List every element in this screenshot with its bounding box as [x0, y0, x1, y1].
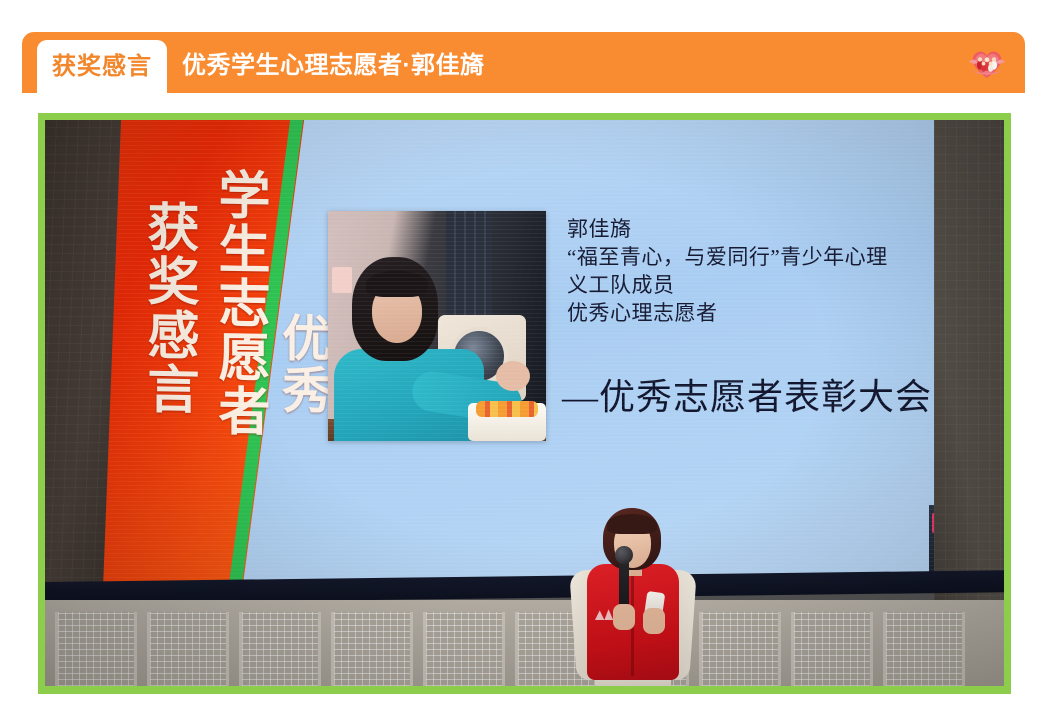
header-badge-label: 获奖感言 — [52, 55, 152, 79]
slide-text-line-1: 郭佳旖 — [567, 216, 962, 244]
stage-floor — [45, 600, 1004, 686]
floor-panel — [239, 612, 321, 686]
speaker-hand-holding-microphone — [613, 604, 635, 630]
slide-vertical-title-2: 学生志愿者 — [212, 168, 265, 439]
slide-vertical-title-1: 获奖感言 — [141, 200, 194, 417]
header-bar: 获奖感言 优秀学生心理志愿者·郭佳旖 — [22, 32, 1025, 93]
stage-photo: 获奖感言 学生志愿者 优秀 郭佳旖 — [45, 120, 1004, 686]
presentation-screen: 获奖感言 学生志愿者 优秀 郭佳旖 — [45, 120, 971, 582]
speaker-hand-holding-phone — [643, 608, 665, 634]
page-title: 优秀学生心理志愿者·郭佳旖 — [182, 32, 485, 93]
floor-panel — [147, 612, 229, 686]
floor-panel — [883, 612, 965, 686]
speaker-bangs — [607, 514, 657, 534]
floor-panel — [791, 612, 873, 686]
floor-panel — [331, 612, 413, 686]
microphone-head-icon — [615, 546, 633, 564]
photo-girl-bangs — [366, 271, 428, 297]
slide-text-line-4: 优秀心理志愿者 — [567, 300, 962, 328]
slide-inset-photo — [328, 211, 546, 441]
floor-panel — [699, 612, 781, 686]
heart-volunteers-logo-icon — [967, 43, 1007, 83]
slide-text-line-3: 义工队成员 — [567, 272, 962, 300]
slide-headline: —优秀志愿者表彰大会 — [562, 368, 932, 420]
slide-vertical-title-3: 优秀 — [277, 312, 328, 417]
header-badge: 获奖感言 — [37, 40, 167, 93]
slide-text-line-2: “福至青心，与爱同行”青少年心理 — [567, 244, 962, 272]
floor-panel — [423, 612, 505, 686]
photo-cake-fruit — [476, 401, 538, 417]
speaker-person — [557, 508, 707, 686]
slide-text-block: 郭佳旖 “福至青心，与爱同行”青少年心理 义工队成员 优秀心理志愿者 — [567, 216, 962, 328]
floor-panel — [55, 612, 137, 686]
photo-wall-poster — [332, 267, 352, 293]
photo-girl-hand — [496, 361, 530, 391]
photo-frame: 获奖感言 学生志愿者 优秀 郭佳旖 — [38, 113, 1011, 694]
